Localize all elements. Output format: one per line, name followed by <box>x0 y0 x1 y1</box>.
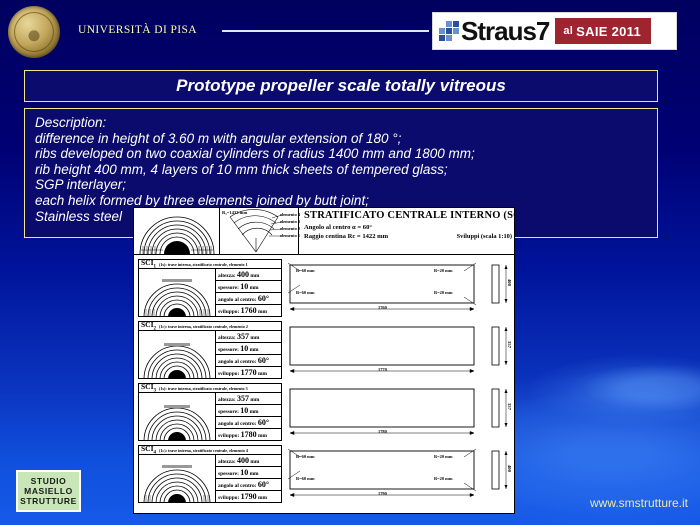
length-dimension: 1770 <box>378 367 387 372</box>
sci-spec-table: altezza: 400 mm spessore: 10 mm angolo a… <box>215 269 281 317</box>
spec-row: angolo al centro: 60° <box>215 417 281 429</box>
website-url[interactable]: www.smstrutture.it <box>590 496 688 510</box>
header-divider-line <box>222 30 429 32</box>
sci-arc-diagram <box>140 269 214 317</box>
spec-row: spessore: 10 mm <box>215 405 281 417</box>
development-view-1: R=60 mm R=20 mm R=60 mm R=20 mm 1760 <box>286 259 486 317</box>
sci-block-header: SCI1 (1s): trave interna, stratificato c… <box>139 260 281 269</box>
straus7-logo: Straus7 al SAIE 2011 <box>432 12 677 50</box>
height-dimension-1: 400 <box>490 259 514 317</box>
description-line: rib height 400 mm, 4 layers of 10 mm thi… <box>35 162 657 178</box>
page-title: Prototype propeller scale totally vitreo… <box>176 76 506 96</box>
corner-radius-label: R=20 mm <box>434 454 452 459</box>
corner-radius-label: R=60 mm <box>296 476 314 481</box>
corner-radius-label: R=60 mm <box>296 290 314 295</box>
spec-row: sviluppo: 1790 mm <box>215 491 281 503</box>
sci-block-header: SCI4 (1c): trave interna, stratificato c… <box>139 446 281 455</box>
sci-arc-diagram <box>140 331 214 379</box>
drawing-title: STRATIFICATO CENTRALE INTERNO (SCI) <box>304 210 512 221</box>
drawing-header-row: R₁=1433 mm elemento 4 <box>134 208 515 255</box>
length-dimension: 1780 <box>378 429 387 434</box>
spec-row: spessore: 10 mm <box>215 467 281 479</box>
slide-header: UNIVERSITÀ DI PISA Straus7 al SAIE 2011 <box>0 0 700 62</box>
fan-label: elemento 3 <box>280 219 300 224</box>
sci-block-header: SCI2 (1c): trave interna, stratificato c… <box>139 322 281 331</box>
fan-element-diagram: R₁=1433 mm elemento 4 <box>220 208 299 255</box>
height-value: 357 <box>507 403 512 410</box>
drawing-title-block: STRATIFICATO CENTRALE INTERNO (SCI) Ango… <box>299 208 515 255</box>
slide-title-box: Prototype propeller scale totally vitreo… <box>24 70 658 102</box>
sci-spec-table: altezza: 400 mm spessore: 10 mm angolo a… <box>215 455 281 503</box>
description-line: difference in height of 3.60 m with angu… <box>35 131 657 147</box>
radius-spec: Raggio centina Rc = 1422 mm <box>304 233 388 240</box>
spec-row: angolo al centro: 60° <box>215 355 281 367</box>
cross-section-rings-thumbnail <box>134 208 220 255</box>
angle-spec: Angolo al centro α = 60° <box>304 224 512 231</box>
corner-radius-label: R=20 mm <box>434 290 452 295</box>
height-value: 400 <box>507 279 512 286</box>
studio-logo-line: STRUTTURE <box>20 496 77 506</box>
university-seal-icon <box>8 6 60 58</box>
sci-spec-table: altezza: 357 mm spessore: 10 mm angolo a… <box>215 393 281 441</box>
height-value: 357 <box>507 341 512 348</box>
sci-description: (1s): trave interna, stratificato centra… <box>159 262 248 267</box>
spec-row: sviluppo: 1780 mm <box>215 429 281 441</box>
spec-row: altezza: 400 mm <box>215 269 281 281</box>
height-dimension-2: 357 <box>490 321 514 379</box>
spec-row: altezza: 357 mm <box>215 331 281 343</box>
studio-logo-line: MASIELLO <box>24 486 73 496</box>
development-view-3: 1780 <box>286 383 486 441</box>
sci-description: (1c): trave interna, stratificato centra… <box>159 324 248 329</box>
spec-row: angolo al centro: 60° <box>215 479 281 491</box>
sci-spec-table: altezza: 357 mm spessore: 10 mm angolo a… <box>215 331 281 379</box>
development-view-4: R=60 mm R=20 mm R=60 mm R=20 mm 1790 <box>286 445 486 503</box>
studio-masiello-logo: STUDIO MASIELLO STRUTTURE <box>16 470 81 512</box>
spec-row: sviluppo: 1770 mm <box>215 367 281 379</box>
height-dimension-3: 357 <box>490 383 514 441</box>
description-line: Description: <box>35 115 657 131</box>
fan-label: elemento 1 <box>280 233 300 238</box>
sci-arc-diagram <box>140 393 214 441</box>
description-line: ribs developed on two coaxial cylinders … <box>35 146 657 162</box>
description-line: SGP interlayer; <box>35 177 657 193</box>
sci-block-1: SCI1 (1s): trave interna, stratificato c… <box>138 259 282 317</box>
length-dimension: 1760 <box>378 305 387 310</box>
sci-block-2: SCI2 (1c): trave interna, stratificato c… <box>138 321 282 379</box>
spec-row: sviluppo: 1760 mm <box>215 305 281 317</box>
technical-drawing-image: R₁=1433 mm elemento 4 <box>133 207 515 514</box>
spec-row: altezza: 357 mm <box>215 393 281 405</box>
sci-block-3: SCI3 (1s): trave interna, stratificato c… <box>138 383 282 441</box>
spec-row: altezza: 400 mm <box>215 455 281 467</box>
fan-label: elemento 4 <box>280 212 300 217</box>
badge-text: SAIE 2011 <box>576 24 641 39</box>
corner-radius-label: R=60 mm <box>296 454 314 459</box>
length-dimension: 1790 <box>378 491 387 496</box>
sci-description: (1c): trave interna, stratificato centra… <box>159 448 248 453</box>
corner-radius-label: R=20 mm <box>434 268 452 273</box>
straus7-grid-icon <box>439 21 459 41</box>
straus7-wordmark: Straus7 <box>461 18 549 44</box>
corner-radius-label: R=20 mm <box>434 476 452 481</box>
studio-logo-line: STUDIO <box>31 476 67 486</box>
scale-note: Sviluppi (scala 1:10) <box>457 233 512 240</box>
saie-2011-badge: al SAIE 2011 <box>555 18 651 44</box>
height-value: 400 <box>507 465 512 472</box>
sci-block-header: SCI3 (1s): trave interna, stratificato c… <box>139 384 281 393</box>
spec-row: spessore: 10 mm <box>215 343 281 355</box>
university-name: UNIVERSITÀ DI PISA <box>78 24 197 36</box>
spec-row: spessore: 10 mm <box>215 281 281 293</box>
sci-description: (1s): trave interna, stratificato centra… <box>159 386 248 391</box>
corner-radius-label: R=60 mm <box>296 268 314 273</box>
fan-label: elemento 2 <box>280 226 300 231</box>
spec-row: angolo al centro: 60° <box>215 293 281 305</box>
sci-arc-diagram <box>140 455 214 503</box>
development-view-2: 1770 <box>286 321 486 379</box>
badge-prefix: al <box>563 25 573 37</box>
sci-block-4: SCI4 (1c): trave interna, stratificato c… <box>138 445 282 503</box>
height-dimension-4: 400 <box>490 445 514 503</box>
